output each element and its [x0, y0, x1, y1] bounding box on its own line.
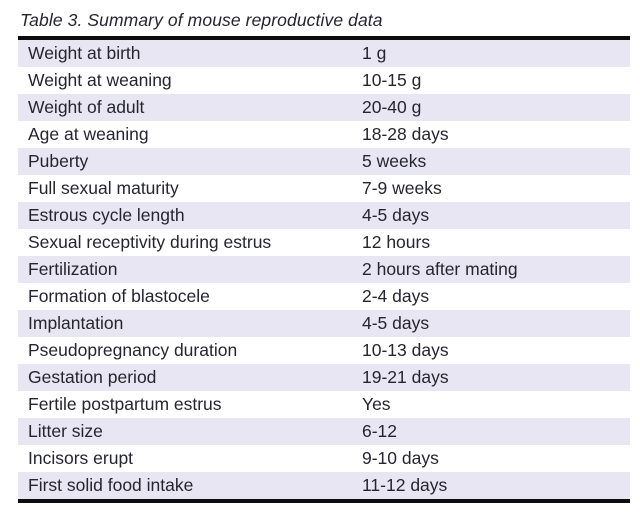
- table-caption: Table 3. Summary of mouse reproductive d…: [20, 10, 383, 31]
- table-row: Gestation period19-21 days: [18, 364, 630, 391]
- table-row: Pseudopregnancy duration10-13 days: [18, 337, 630, 364]
- table-cell-value: 4-5 days: [360, 202, 630, 229]
- table-cell-value: Yes: [360, 391, 630, 418]
- table-cell-parameter: Weight of adult: [18, 94, 360, 121]
- table-row: Estrous cycle length4-5 days: [18, 202, 630, 229]
- table-row: Weight at weaning10-15 g: [18, 67, 630, 94]
- table-body: Weight at birth1 gWeight at weaning10-15…: [18, 38, 630, 501]
- table-cell-parameter: Litter size: [18, 418, 360, 445]
- table-cell-value: 20-40 g: [360, 94, 630, 121]
- table-cell-value: 5 weeks: [360, 148, 630, 175]
- reproductive-data-table: Weight at birth1 gWeight at weaning10-15…: [18, 36, 630, 503]
- table-row: Age at weaning18-28 days: [18, 121, 630, 148]
- table-figure: Table 3. Summary of mouse reproductive d…: [0, 0, 640, 529]
- table-cell-parameter: Implantation: [18, 310, 360, 337]
- table-cell-value: 11-12 days: [360, 472, 630, 501]
- table-cell-parameter: Full sexual maturity: [18, 175, 360, 202]
- table-row: Puberty5 weeks: [18, 148, 630, 175]
- table-cell-value: 10-15 g: [360, 67, 630, 94]
- table-cell-value: 4-5 days: [360, 310, 630, 337]
- table-cell-value: 10-13 days: [360, 337, 630, 364]
- table-cell-parameter: First solid food intake: [18, 472, 360, 501]
- table-cell-parameter: Pseudopregnancy duration: [18, 337, 360, 364]
- table-cell-value: 18-28 days: [360, 121, 630, 148]
- table-row: Sexual receptivity during estrus12 hours: [18, 229, 630, 256]
- table-cell-value: 2-4 days: [360, 283, 630, 310]
- table-row: Fertilization2 hours after mating: [18, 256, 630, 283]
- table-cell-parameter: Sexual receptivity during estrus: [18, 229, 360, 256]
- table-cell-parameter: Weight at weaning: [18, 67, 360, 94]
- table-row: First solid food intake11-12 days: [18, 472, 630, 501]
- table-cell-parameter: Puberty: [18, 148, 360, 175]
- table-cell-parameter: Incisors erupt: [18, 445, 360, 472]
- table-row: Formation of blastocele2-4 days: [18, 283, 630, 310]
- table-cell-parameter: Formation of blastocele: [18, 283, 360, 310]
- table-cell-parameter: Estrous cycle length: [18, 202, 360, 229]
- table-cell-value: 9-10 days: [360, 445, 630, 472]
- table-cell-parameter: Weight at birth: [18, 38, 360, 67]
- table-row: Incisors erupt9-10 days: [18, 445, 630, 472]
- table-cell-value: 1 g: [360, 38, 630, 67]
- table-cell-value: 19-21 days: [360, 364, 630, 391]
- table-cell-parameter: Fertilization: [18, 256, 360, 283]
- table-cell-value: 7-9 weeks: [360, 175, 630, 202]
- table-cell-value: 6-12: [360, 418, 630, 445]
- table-cell-parameter: Gestation period: [18, 364, 360, 391]
- table-row: Litter size6-12: [18, 418, 630, 445]
- table-row: Implantation4-5 days: [18, 310, 630, 337]
- table-row: Weight at birth1 g: [18, 38, 630, 67]
- table-cell-parameter: Fertile postpartum estrus: [18, 391, 360, 418]
- table-cell-value: 2 hours after mating: [360, 256, 630, 283]
- table-row: Fertile postpartum estrusYes: [18, 391, 630, 418]
- table-row: Full sexual maturity7-9 weeks: [18, 175, 630, 202]
- table-cell-parameter: Age at weaning: [18, 121, 360, 148]
- table-row: Weight of adult20-40 g: [18, 94, 630, 121]
- table-cell-value: 12 hours: [360, 229, 630, 256]
